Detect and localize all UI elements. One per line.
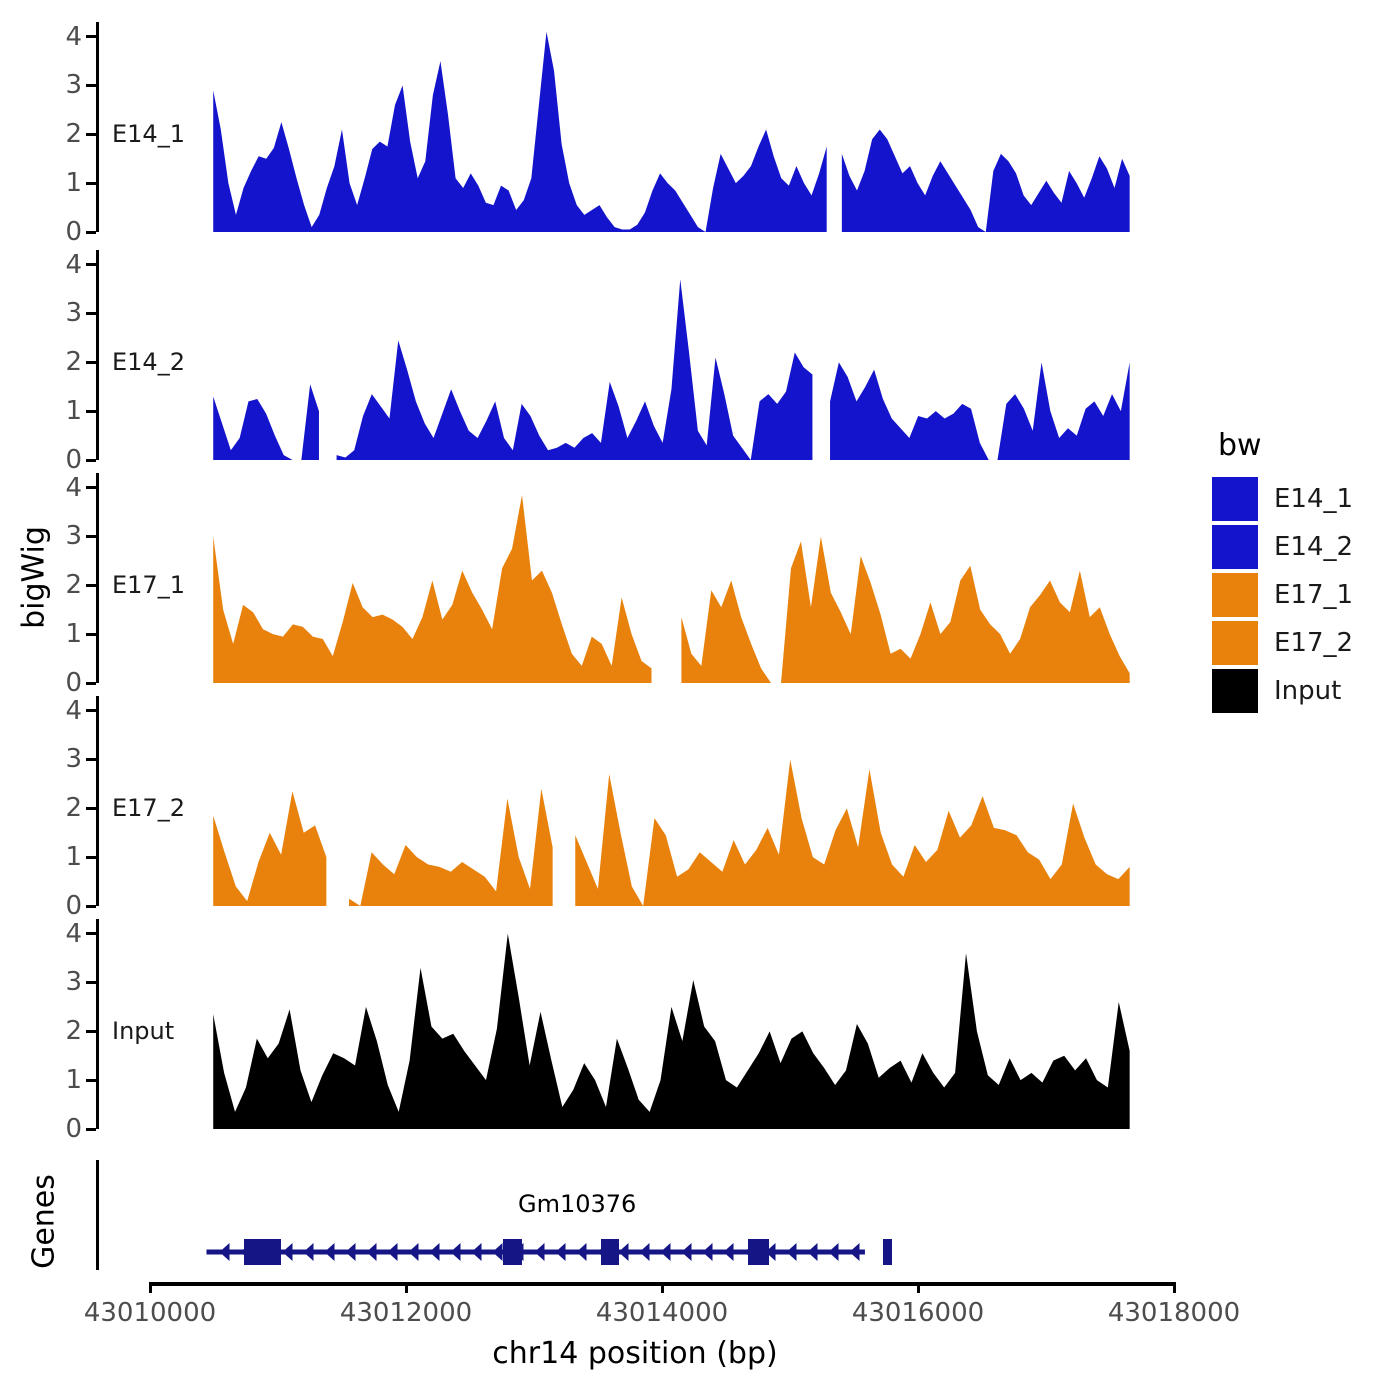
y-tick xyxy=(86,410,96,413)
track-plot-area[interactable] xyxy=(99,473,1174,683)
y-tick xyxy=(86,905,96,908)
x-tick-label: 43014000 xyxy=(596,1298,728,1328)
y-tick-label: 3 xyxy=(65,746,82,772)
legend-item-e14_2[interactable]: E14_2 xyxy=(1212,525,1392,569)
signal-area xyxy=(213,934,1129,1129)
strand-arrow-icon xyxy=(325,1243,335,1261)
genome-browser-figure: bigWig Genes 01234E14_101234E14_201234E1… xyxy=(0,0,1400,1400)
strand-arrow-icon xyxy=(367,1243,377,1261)
signal-area xyxy=(842,129,1130,232)
strand-arrow-icon xyxy=(661,1243,671,1261)
y-tick xyxy=(86,807,96,810)
y-tick xyxy=(86,459,96,462)
y-tick xyxy=(86,35,96,38)
y-tick-label: 1 xyxy=(65,1067,82,1093)
y-tick-label: 4 xyxy=(65,252,82,278)
y-tick-label: 1 xyxy=(65,170,82,196)
y-tick xyxy=(86,133,96,136)
x-tick-label: 43010000 xyxy=(84,1298,216,1328)
y-tick-label: 3 xyxy=(65,72,82,98)
y-tick-label: 1 xyxy=(65,621,82,647)
y-tick-label: 0 xyxy=(65,1116,82,1142)
y-tick-label: 3 xyxy=(65,969,82,995)
x-tick-label: 43012000 xyxy=(340,1298,472,1328)
y-tick-label: 3 xyxy=(65,300,82,326)
legend-color-swatch xyxy=(1212,477,1258,521)
y-tick-label: 0 xyxy=(65,219,82,245)
strand-arrow-icon xyxy=(682,1243,692,1261)
strand-arrow-icon xyxy=(409,1243,419,1261)
y-tick xyxy=(86,856,96,859)
signal-area xyxy=(575,759,1129,906)
x-tick-label: 43016000 xyxy=(852,1298,984,1328)
y-tick-label: 4 xyxy=(65,24,82,50)
signal-area xyxy=(349,789,553,906)
track-panel-e14_1: 01234E14_1 xyxy=(96,22,1174,232)
y-tick xyxy=(86,486,96,489)
y-tick-label: 2 xyxy=(65,121,82,147)
y-tick xyxy=(86,1079,96,1082)
y-tick xyxy=(86,84,96,87)
y-tick xyxy=(86,361,96,364)
track-panel-e17_1: 01234E17_1 xyxy=(96,473,1174,683)
x-axis: 4301000043012000430140004301600043018000 xyxy=(96,1282,1174,1332)
y-tick-label: 0 xyxy=(65,670,82,696)
legend-item-e17_2[interactable]: E17_2 xyxy=(1212,621,1392,665)
x-tick-label: 43018000 xyxy=(1108,1298,1240,1328)
signal-area xyxy=(213,384,319,460)
y-tick xyxy=(86,535,96,538)
x-tick xyxy=(149,1282,152,1293)
x-tick xyxy=(917,1282,920,1293)
gene-exon[interactable] xyxy=(883,1239,892,1265)
legend-color-swatch xyxy=(1212,525,1258,569)
y-tick-label: 3 xyxy=(65,523,82,549)
legend-color-swatch xyxy=(1212,621,1258,665)
strand-arrow-icon xyxy=(556,1243,566,1261)
strand-arrow-icon xyxy=(850,1243,860,1261)
legend-label: E17_2 xyxy=(1274,628,1353,658)
y-tick-label: 2 xyxy=(65,795,82,821)
signal-area xyxy=(213,32,826,232)
signal-area xyxy=(830,362,1130,460)
y-tick xyxy=(86,709,96,712)
y-tick xyxy=(86,682,96,685)
track-plot-area[interactable] xyxy=(99,22,1174,232)
y-tick-label: 0 xyxy=(65,893,82,919)
legend-label: Input xyxy=(1274,676,1341,706)
strand-arrow-icon xyxy=(472,1243,482,1261)
legend-label: E14_2 xyxy=(1274,532,1353,562)
y-tick-label: 2 xyxy=(65,349,82,375)
strand-arrow-icon xyxy=(640,1243,650,1261)
strand-arrow-icon xyxy=(724,1243,734,1261)
legend-title: bw xyxy=(1218,428,1392,463)
legend-label: E17_1 xyxy=(1274,580,1353,610)
legend-color-swatch xyxy=(1212,573,1258,617)
y-tick xyxy=(86,263,96,266)
strand-arrow-icon xyxy=(535,1243,545,1261)
y-axis-label-genes: Genes xyxy=(27,1162,62,1282)
y-tick xyxy=(86,312,96,315)
track-panel-e17_2: 01234E17_2 xyxy=(96,696,1174,906)
legend-items: E14_1E14_2E17_1E17_2Input xyxy=(1212,477,1392,713)
gene-exon[interactable] xyxy=(503,1239,522,1265)
x-tick xyxy=(1173,1282,1176,1293)
legend-label: E14_1 xyxy=(1274,484,1353,514)
y-tick xyxy=(86,758,96,761)
y-tick xyxy=(86,633,96,636)
strand-arrow-icon xyxy=(493,1243,503,1261)
y-tick-label: 1 xyxy=(65,398,82,424)
track-plot-area[interactable] xyxy=(99,696,1174,906)
track-panel-input: 01234Input xyxy=(96,919,1174,1129)
y-tick-label: 2 xyxy=(65,572,82,598)
gene-model-svg[interactable] xyxy=(99,1160,1174,1280)
track-panel-e14_2: 01234E14_2 xyxy=(96,250,1174,460)
genes-track: Gm10376 xyxy=(96,1160,1174,1280)
signal-area xyxy=(681,536,1129,683)
track-plot-area[interactable] xyxy=(99,919,1174,1129)
signal-area xyxy=(337,279,813,460)
gene-exon[interactable] xyxy=(748,1239,769,1265)
strand-arrow-icon xyxy=(808,1243,818,1261)
signal-area xyxy=(213,791,326,906)
strand-arrow-icon xyxy=(388,1243,398,1261)
x-axis-title: chr14 position (bp) xyxy=(96,1336,1174,1371)
y-tick xyxy=(86,584,96,587)
strand-arrow-icon xyxy=(703,1243,713,1261)
strand-arrow-icon xyxy=(577,1243,587,1261)
y-tick xyxy=(86,1128,96,1131)
x-tick xyxy=(405,1282,408,1293)
y-tick-label: 1 xyxy=(65,844,82,870)
strand-arrow-icon xyxy=(619,1243,629,1261)
y-tick xyxy=(86,182,96,185)
y-tick xyxy=(86,231,96,234)
x-tick xyxy=(661,1282,664,1293)
strand-arrow-icon xyxy=(787,1243,797,1261)
y-tick-label: 0 xyxy=(65,447,82,473)
y-tick xyxy=(86,1030,96,1033)
legend-item-e17_1[interactable]: E17_1 xyxy=(1212,573,1392,617)
signal-area xyxy=(213,495,651,683)
y-tick-label: 4 xyxy=(65,698,82,724)
strand-arrow-icon xyxy=(430,1243,440,1261)
strand-arrow-icon xyxy=(346,1243,356,1261)
y-tick xyxy=(86,932,96,935)
strand-arrow-icon xyxy=(283,1243,293,1261)
track-plot-area[interactable] xyxy=(99,250,1174,460)
y-tick-label: 4 xyxy=(65,921,82,947)
strand-arrow-icon xyxy=(451,1243,461,1261)
gene-exon[interactable] xyxy=(601,1239,619,1265)
gene-exon[interactable] xyxy=(244,1239,281,1265)
legend-item-e14_1[interactable]: E14_1 xyxy=(1212,477,1392,521)
y-tick-label: 4 xyxy=(65,475,82,501)
legend-color-swatch xyxy=(1212,669,1258,713)
y-tick-label: 2 xyxy=(65,1018,82,1044)
strand-arrow-icon xyxy=(829,1243,839,1261)
strand-arrow-icon xyxy=(220,1243,230,1261)
strand-arrow-icon xyxy=(304,1243,314,1261)
y-axis-label-bigwig: bigWig xyxy=(17,518,52,638)
legend-item-input[interactable]: Input xyxy=(1212,669,1392,713)
legend: bw E14_1E14_2E17_1E17_2Input xyxy=(1212,428,1392,717)
y-tick xyxy=(86,981,96,984)
